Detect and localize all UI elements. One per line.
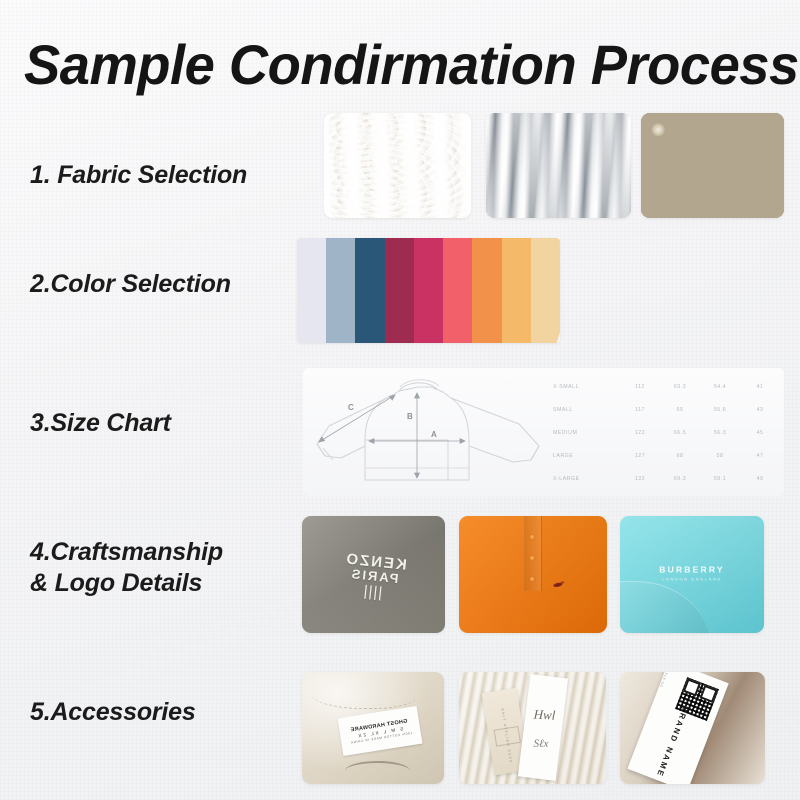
size-name: MEDIUM: [544, 430, 620, 436]
size-value: 65: [660, 407, 700, 413]
craftsmanship-photo-burberry-print: BURBERRY LONDON ENGLAND: [620, 516, 764, 633]
step-label-craftsmanship-logo-details: 4.Craftsmanship & Logo Details: [30, 537, 223, 599]
color-swatch-magenta-pink: [414, 238, 443, 343]
step-label-fabric-selection: 1. Fabric Selection: [30, 160, 247, 191]
size-value: 41: [740, 384, 780, 390]
signature-mark: Hwl: [533, 707, 555, 724]
step-label-size-chart: 3.Size Chart: [30, 408, 171, 439]
size-value: 47: [740, 453, 780, 459]
print-line-brand: BURBERRY: [659, 565, 724, 575]
hood-seam: [311, 679, 416, 709]
drawcord: [345, 761, 410, 781]
fabric-texture-image: [324, 113, 471, 218]
size-value: 49: [740, 476, 780, 482]
step-label-color-selection: 2.Color Selection: [30, 269, 231, 300]
table-row: LARGE 127 68 58 47: [544, 446, 782, 466]
size-measurement-table: X-SMALL 112 63.3 54.4 41 SMALL 117 65 55…: [544, 372, 782, 494]
polo-button-icon: [530, 535, 535, 540]
hangtag-with-qr: STYLE NO. BRAND NAME: [627, 672, 728, 784]
color-palette-strip: [297, 238, 560, 343]
hangtag-brand-name: BRAND NAME: [661, 703, 690, 761]
color-swatch-cream-tan: [531, 238, 560, 343]
size-value: 56.3: [700, 430, 740, 436]
craftsmanship-photo-kenzo-print: KENZO PARIS ||||: [302, 516, 445, 633]
burberry-print-graphic: BURBERRY LONDON ENGLAND: [659, 565, 724, 582]
sleeve-seam: [620, 581, 711, 633]
size-value: 43: [740, 407, 780, 413]
hangtag-small-text: STYLE NO.: [658, 672, 670, 689]
size-value: 63.3: [660, 384, 700, 390]
color-swatch-light-orange: [502, 238, 531, 343]
color-swatch-coral-red: [443, 238, 472, 343]
hangtag-background-image: STYLE NO. BRAND NAME: [620, 672, 765, 784]
size-value: 59.1: [700, 476, 740, 482]
color-swatch-orange: [472, 238, 501, 343]
garment-background-image: GHOST HARDWARE S M L XL 2X 100% COTTON M…: [302, 672, 444, 784]
dimension-label-a: A: [431, 430, 437, 439]
signature-mark-secondary: Sℓx: [533, 738, 548, 750]
poster-canvas: Sample Condirmation Process 1. Fabric Se…: [0, 0, 800, 800]
size-value: 54.4: [700, 384, 740, 390]
fabric-swatch-boucle-beige: [641, 113, 784, 218]
page-title: Sample Condirmation Process: [24, 34, 761, 96]
table-row: SMALL 117 65 55.6 43: [544, 400, 782, 420]
fabric-swatch-cable-knit: [324, 113, 471, 218]
size-value: 68: [660, 453, 700, 459]
color-swatch-deep-teal: [355, 238, 384, 343]
size-name: X-LARGE: [544, 476, 620, 482]
size-value: 132: [620, 476, 660, 482]
accessory-photo-qr-hangtag: STYLE NO. BRAND NAME: [620, 672, 765, 784]
garment-fabric-image: BURBERRY LONDON ENGLAND: [620, 516, 764, 633]
size-name: X-SMALL: [544, 384, 620, 390]
size-value: 122: [620, 430, 660, 436]
polo-button-icon: [530, 577, 535, 582]
garment-technical-drawing: A B C: [303, 368, 561, 496]
size-name: LARGE: [544, 453, 620, 459]
knitwear-background-image: KNIT ATELIER SS24 Hwl Sℓx: [459, 672, 606, 784]
fabric-texture-image: [486, 113, 631, 218]
table-row: MEDIUM 122 66.5 56.3 45: [544, 423, 782, 443]
hangtag-signature: Hwl Sℓx: [518, 675, 568, 782]
polo-button-icon: [530, 556, 535, 561]
table-row: X-LARGE 132 69.3 59.1 49: [544, 469, 782, 489]
accessory-photo-care-label: GHOST HARDWARE S M L XL 2X 100% COTTON M…: [302, 672, 444, 784]
color-swatch-pale-lilac: [297, 238, 326, 343]
size-value: 112: [620, 384, 660, 390]
color-swatch-burgundy: [385, 238, 414, 343]
size-value: 55.6: [700, 407, 740, 413]
woven-care-label: GHOST HARDWARE S M L XL 2X 100% COTTON M…: [338, 706, 422, 756]
size-chart-panel: A B C X-SMALL 112 63.3 54.4 41 SMALL 117…: [303, 368, 784, 496]
fabric-swatch-wavy-grey: [486, 113, 631, 218]
size-value: 127: [620, 453, 660, 459]
accessory-photo-signature-hangtags: KNIT ATELIER SS24 Hwl Sℓx: [459, 672, 606, 784]
fabric-texture-image: [641, 113, 784, 218]
size-value: 117: [620, 407, 660, 413]
garment-fabric-image: [459, 516, 607, 633]
size-value: 45: [740, 430, 780, 436]
dimension-label-c: C: [348, 403, 354, 412]
size-value: 58: [700, 453, 740, 459]
print-line-origin: LONDON ENGLAND: [659, 577, 724, 582]
size-value: 66.5: [660, 430, 700, 436]
table-row: X-SMALL 112 63.3 54.4 41: [544, 377, 782, 397]
step-label-accessories: 5.Accessories: [30, 697, 196, 728]
garment-fabric-image: KENZO PARIS ||||: [302, 516, 445, 633]
color-swatch-dusty-blue: [326, 238, 355, 343]
craftsmanship-photo-orange-polo: [459, 516, 607, 633]
size-name: SMALL: [544, 407, 620, 413]
dimension-label-b: B: [407, 412, 413, 421]
size-value: 69.3: [660, 476, 700, 482]
embroidered-logo-icon: [551, 578, 568, 591]
kenzo-print-graphic: KENZO PARIS ||||: [340, 551, 407, 602]
